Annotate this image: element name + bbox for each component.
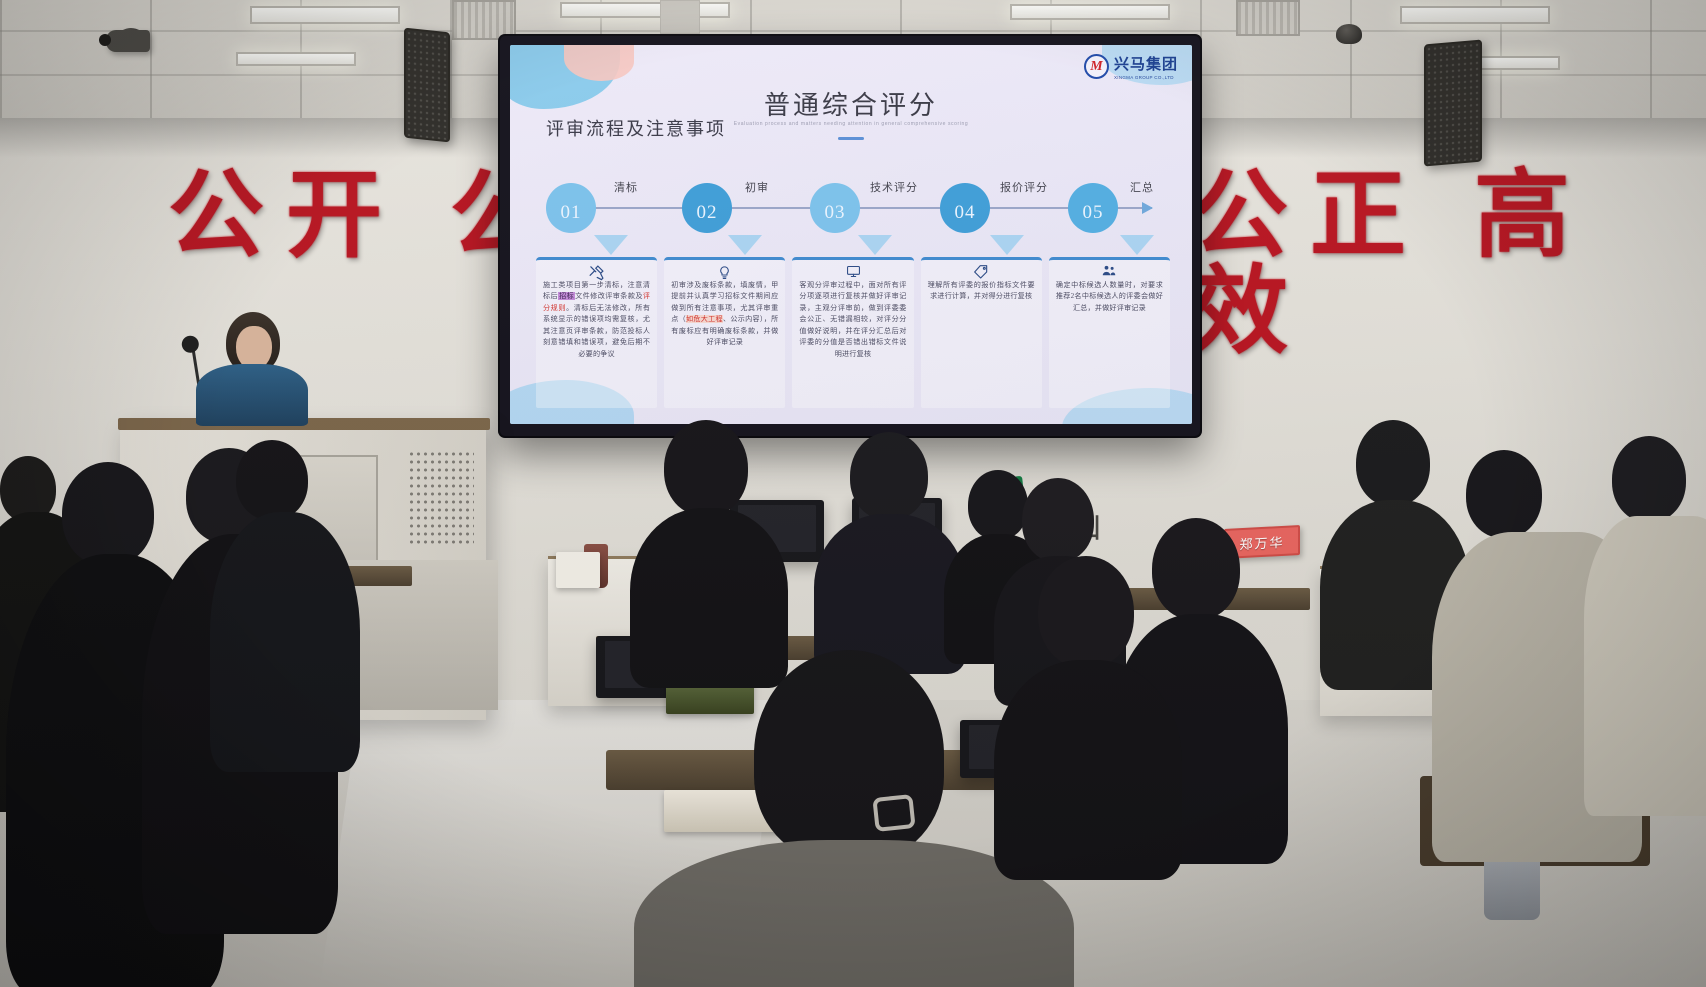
audience-head — [236, 440, 308, 520]
people-icon — [1049, 264, 1170, 282]
timeline-label-01: 清标 — [614, 179, 638, 195]
timeline-node-02: 02 — [682, 183, 732, 233]
audience-head — [1038, 556, 1134, 668]
down-arrow-icon — [594, 235, 628, 255]
down-arrow-icon — [1120, 235, 1154, 255]
ceiling-light — [1400, 6, 1550, 24]
company-logo: M 兴马集团 XINGMA GROUP CO.,LTD — [1084, 53, 1178, 80]
down-arrow-icon — [728, 235, 762, 255]
detail-card-1: 施工类项目第一步清标，注意清标后招标文件修改评审条款及评分规则。清标后无法修改，… — [536, 257, 657, 408]
audience-body — [630, 508, 788, 688]
ceiling-light — [236, 52, 356, 66]
audience-head — [1612, 436, 1686, 522]
ceiling-vent — [1236, 0, 1300, 36]
tools-icon — [536, 264, 657, 284]
audience-head — [62, 462, 154, 566]
timeline-node-05: 05 — [1068, 183, 1118, 233]
detail-card-1-text: 施工类项目第一步清标，注意清标后招标文件修改评审条款及评分规则。清标后无法修改，… — [543, 280, 650, 360]
audience-head — [754, 650, 944, 860]
audience-head — [1466, 450, 1542, 538]
slide-canvas: M 兴马集团 XINGMA GROUP CO.,LTD 普通综合评分 Evalu… — [510, 45, 1192, 424]
logo-name-en: XINGMA GROUP CO.,LTD — [1114, 75, 1178, 80]
detail-card-4-text: 理解所有评委的报价指标文件要求进行计算，并对得分进行复核 — [928, 280, 1035, 303]
ceiling-panel — [660, 0, 700, 34]
ceiling-light — [250, 6, 400, 24]
timeline-node-03: 03 — [810, 183, 860, 233]
down-arrow-icon — [858, 235, 892, 255]
audience-body — [1584, 516, 1706, 816]
timeline-label-05: 汇总 — [1130, 179, 1154, 195]
audience-head — [850, 432, 928, 520]
detail-card-4: 理解所有评委的报价指标文件要求进行计算，并对得分进行复核 — [921, 257, 1042, 408]
wall-calligraphy-right: 公正 高效 — [1192, 168, 1706, 360]
lightbulb-icon — [664, 264, 785, 284]
podium-speaker-grille — [408, 450, 474, 548]
logo-name-cn: 兴马集团 — [1114, 53, 1178, 74]
detail-card-5: 确定中标候选人数量时，对要求推荐2名中标候选人的评委会做好汇总，并做好评审记录 — [1049, 257, 1170, 408]
audience-body — [994, 660, 1182, 880]
wall-speaker-left — [404, 28, 450, 143]
timeline-label-04: 报价评分 — [1000, 179, 1048, 195]
wall-speaker-right — [1424, 39, 1482, 166]
ceiling-light — [1010, 4, 1170, 20]
presenter-torso — [196, 364, 308, 426]
logo-mark-icon: M — [1084, 54, 1109, 79]
ceiling-vent — [452, 0, 516, 40]
audience-head — [1356, 420, 1430, 506]
audience-body — [210, 512, 360, 772]
process-timeline: 01 02 03 04 05 清标 初审 技术评分 报价评分 汇总 — [540, 173, 1166, 235]
detail-card-row: 施工类项目第一步清标，注意清标后招标文件修改评审条款及评分规则。清标后无法修改，… — [536, 257, 1170, 408]
ceiling-light — [560, 2, 730, 18]
detail-card-3-text: 客观分评审过程中，面对所有评分项逐项进行复核并做好评审记录，主观分评审前，做到评… — [799, 280, 906, 360]
audience-head — [1022, 478, 1094, 562]
timeline-node-04: 04 — [940, 183, 990, 233]
detail-card-2: 初审涉及废标条款，填废情，甲提前并认真学习招标文件期间应做到所有注意事项，尤其评… — [664, 257, 785, 408]
audience-head — [664, 420, 748, 516]
slide-title-rule — [838, 137, 864, 140]
tag-icon — [921, 264, 1042, 283]
logo-glyph: M — [1090, 60, 1102, 74]
detail-card-3: 客观分评审过程中，面对所有评分项逐项进行复核并做好评审记录，主观分评审前，做到评… — [792, 257, 913, 408]
presentation-screen[interactable]: M 兴马集团 XINGMA GROUP CO.,LTD 普通综合评分 Evalu… — [500, 36, 1200, 436]
document-stack — [556, 552, 600, 588]
slide-section-label: 评审流程及注意事项 — [546, 115, 726, 141]
timeline-label-03: 技术评分 — [870, 179, 918, 195]
ceiling-camera-dome — [1336, 24, 1362, 44]
timeline-node-01: 01 — [546, 183, 596, 233]
monitor-icon — [792, 264, 913, 282]
down-arrow-icon — [990, 235, 1024, 255]
timeline-label-02: 初审 — [745, 179, 769, 195]
audience-head — [968, 470, 1028, 540]
jacket-logo-icon — [872, 794, 915, 832]
detail-card-2-text: 初审涉及废标条款，填废情，甲提前并认真学习招标文件期间应做到所有注意事项，尤其评… — [671, 280, 778, 349]
nameplate-text: 郑万华 — [1239, 531, 1284, 552]
audience-head — [1152, 518, 1240, 620]
conference-room-photo: 公开 公平 公正 高效 M 兴马集团 XINGMA GROUP CO.,LTD … — [0, 0, 1706, 987]
detail-card-5-text: 确定中标候选人数量时，对要求推荐2名中标候选人的评委会做好汇总，并做好评审记录 — [1056, 280, 1163, 314]
wall-camera — [106, 30, 150, 52]
